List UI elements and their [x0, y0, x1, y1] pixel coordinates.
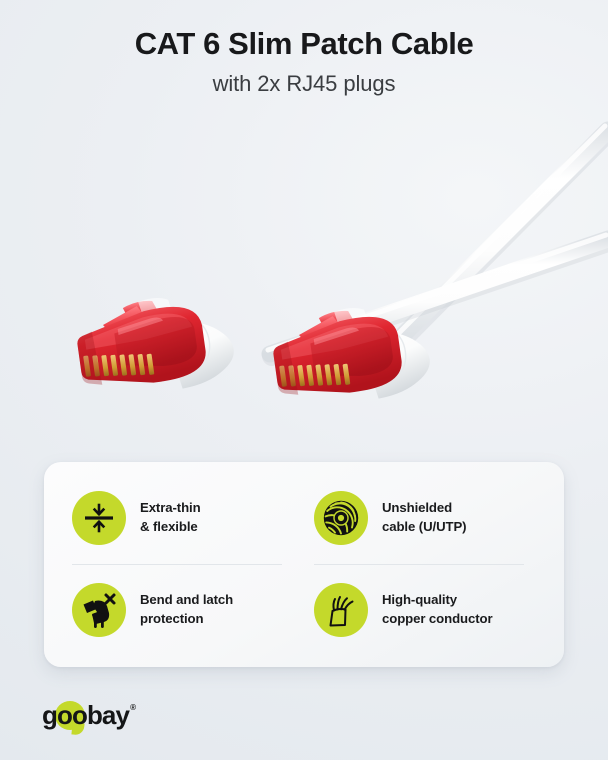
feature-card: Extra-thin & flexible [44, 462, 564, 667]
goobay-logo: goobay [42, 700, 129, 730]
logo-wordmark: goobay [42, 700, 129, 730]
cable-upper [386, 126, 608, 352]
feature-unshielded-cable: Unshielded cable (U/UTP) [304, 472, 546, 564]
feature-copper-conductor: High-quality copper conductor [304, 564, 546, 656]
feature-bend-latch-protection: Bend and latch protection [62, 564, 304, 656]
footer: goobay ® [42, 700, 136, 730]
page-subtitle: with 2x RJ45 plugs [0, 71, 608, 97]
header: CAT 6 Slim Patch Cable with 2x RJ45 plug… [0, 0, 608, 97]
registered-trademark-mark: ® [130, 704, 136, 712]
extra-thin-icon [72, 491, 126, 545]
product-infographic: CAT 6 Slim Patch Cable with 2x RJ45 plug… [0, 0, 608, 760]
product-illustration [0, 120, 608, 460]
copper-conductor-icon [314, 583, 368, 637]
page-title: CAT 6 Slim Patch Cable [0, 26, 608, 62]
feature-label: Extra-thin & flexible [140, 499, 201, 536]
unshielded-cable-icon [314, 491, 368, 545]
feature-row-top: Extra-thin & flexible [62, 472, 546, 564]
feature-row-bottom: Bend and latch protection [62, 564, 546, 656]
bend-latch-protection-icon [72, 583, 126, 637]
feature-label: Bend and latch protection [140, 591, 233, 628]
feature-label: Unshielded cable (U/UTP) [382, 499, 466, 536]
rj45-plug-left [73, 288, 239, 402]
feature-extra-thin: Extra-thin & flexible [62, 472, 304, 564]
product-photo [0, 120, 608, 460]
feature-label: High-quality copper conductor [382, 591, 493, 628]
